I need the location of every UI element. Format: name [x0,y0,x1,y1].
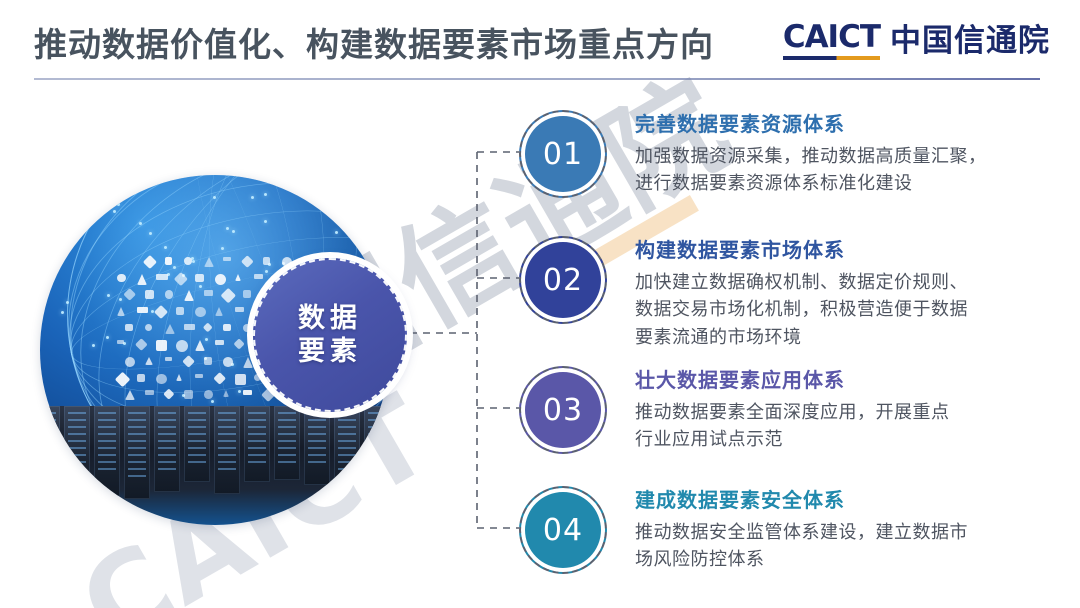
item-number-label: 03 [543,393,583,428]
item-body-line: 要素流通的市场环境 [635,324,968,351]
item-number-badge[interactable]: 01 [519,110,607,198]
hub-circle: 数据 要素 [253,258,407,412]
item-number-label: 02 [543,263,583,298]
item-body-line: 数据交易市场化机制，积极营造便于数据 [635,296,968,323]
item-number-badge[interactable]: 02 [519,236,607,324]
item-text-block: 壮大数据要素应用体系 推动数据要素全面深度应用，开展重点 行业应用试点示范 [635,366,950,454]
item-body-line: 推动数据安全监管体系建设，建立数据市 [635,519,968,546]
item-body: 推动数据要素全面深度应用，开展重点 行业应用试点示范 [635,399,950,454]
hub-label-line1: 数据 [298,305,362,332]
item-body-line: 行业应用试点示范 [635,426,950,453]
list-item[interactable]: 04 建成数据要素安全体系 推动数据安全监管体系建设，建立数据市 场风险防控体系 [519,486,968,574]
item-body: 推动数据安全监管体系建设，建立数据市 场风险防控体系 [635,519,968,574]
item-number-label: 01 [543,137,583,172]
item-body-line: 加强数据资源采集，推动数据高质量汇聚， [635,143,987,170]
item-number-label: 04 [543,513,583,548]
list-item[interactable]: 01 完善数据要素资源体系 加强数据资源采集，推动数据高质量汇聚， 进行数据要素… [519,110,987,198]
item-number-badge[interactable]: 03 [519,366,607,454]
item-body-line: 场风险防控体系 [635,546,968,573]
list-item[interactable]: 02 构建数据要素市场体系 加快建立数据确权机制、数据定价规则、 数据交易市场化… [519,236,968,351]
item-heading: 建成数据要素安全体系 [635,488,968,513]
item-body: 加强数据资源采集，推动数据高质量汇聚， 进行数据要素资源体系标准化建设 [635,143,987,198]
slide-root: 中国信通院 CAICT 推动数据价值化、构建数据要素市场重点方向 CAICT 中… [0,0,1080,608]
hub-label-line2: 要素 [298,338,362,365]
item-heading: 完善数据要素资源体系 [635,112,987,137]
items-list: 01 完善数据要素资源体系 加强数据资源采集，推动数据高质量汇聚， 进行数据要素… [0,0,1080,608]
list-item[interactable]: 03 壮大数据要素应用体系 推动数据要素全面深度应用，开展重点 行业应用试点示范 [519,366,950,454]
item-body-line: 进行数据要素资源体系标准化建设 [635,170,987,197]
item-text-block: 建成数据要素安全体系 推动数据安全监管体系建设，建立数据市 场风险防控体系 [635,486,968,574]
item-heading: 构建数据要素市场体系 [635,238,968,263]
item-heading: 壮大数据要素应用体系 [635,368,950,393]
item-text-block: 构建数据要素市场体系 加快建立数据确权机制、数据定价规则、 数据交易市场化机制，… [635,236,968,351]
item-body: 加快建立数据确权机制、数据定价规则、 数据交易市场化机制，积极营造便于数据 要素… [635,269,968,351]
item-number-badge[interactable]: 04 [519,486,607,574]
item-body-line: 推动数据要素全面深度应用，开展重点 [635,399,950,426]
item-body-line: 加快建立数据确权机制、数据定价规则、 [635,269,968,296]
item-text-block: 完善数据要素资源体系 加强数据资源采集，推动数据高质量汇聚， 进行数据要素资源体… [635,110,987,198]
